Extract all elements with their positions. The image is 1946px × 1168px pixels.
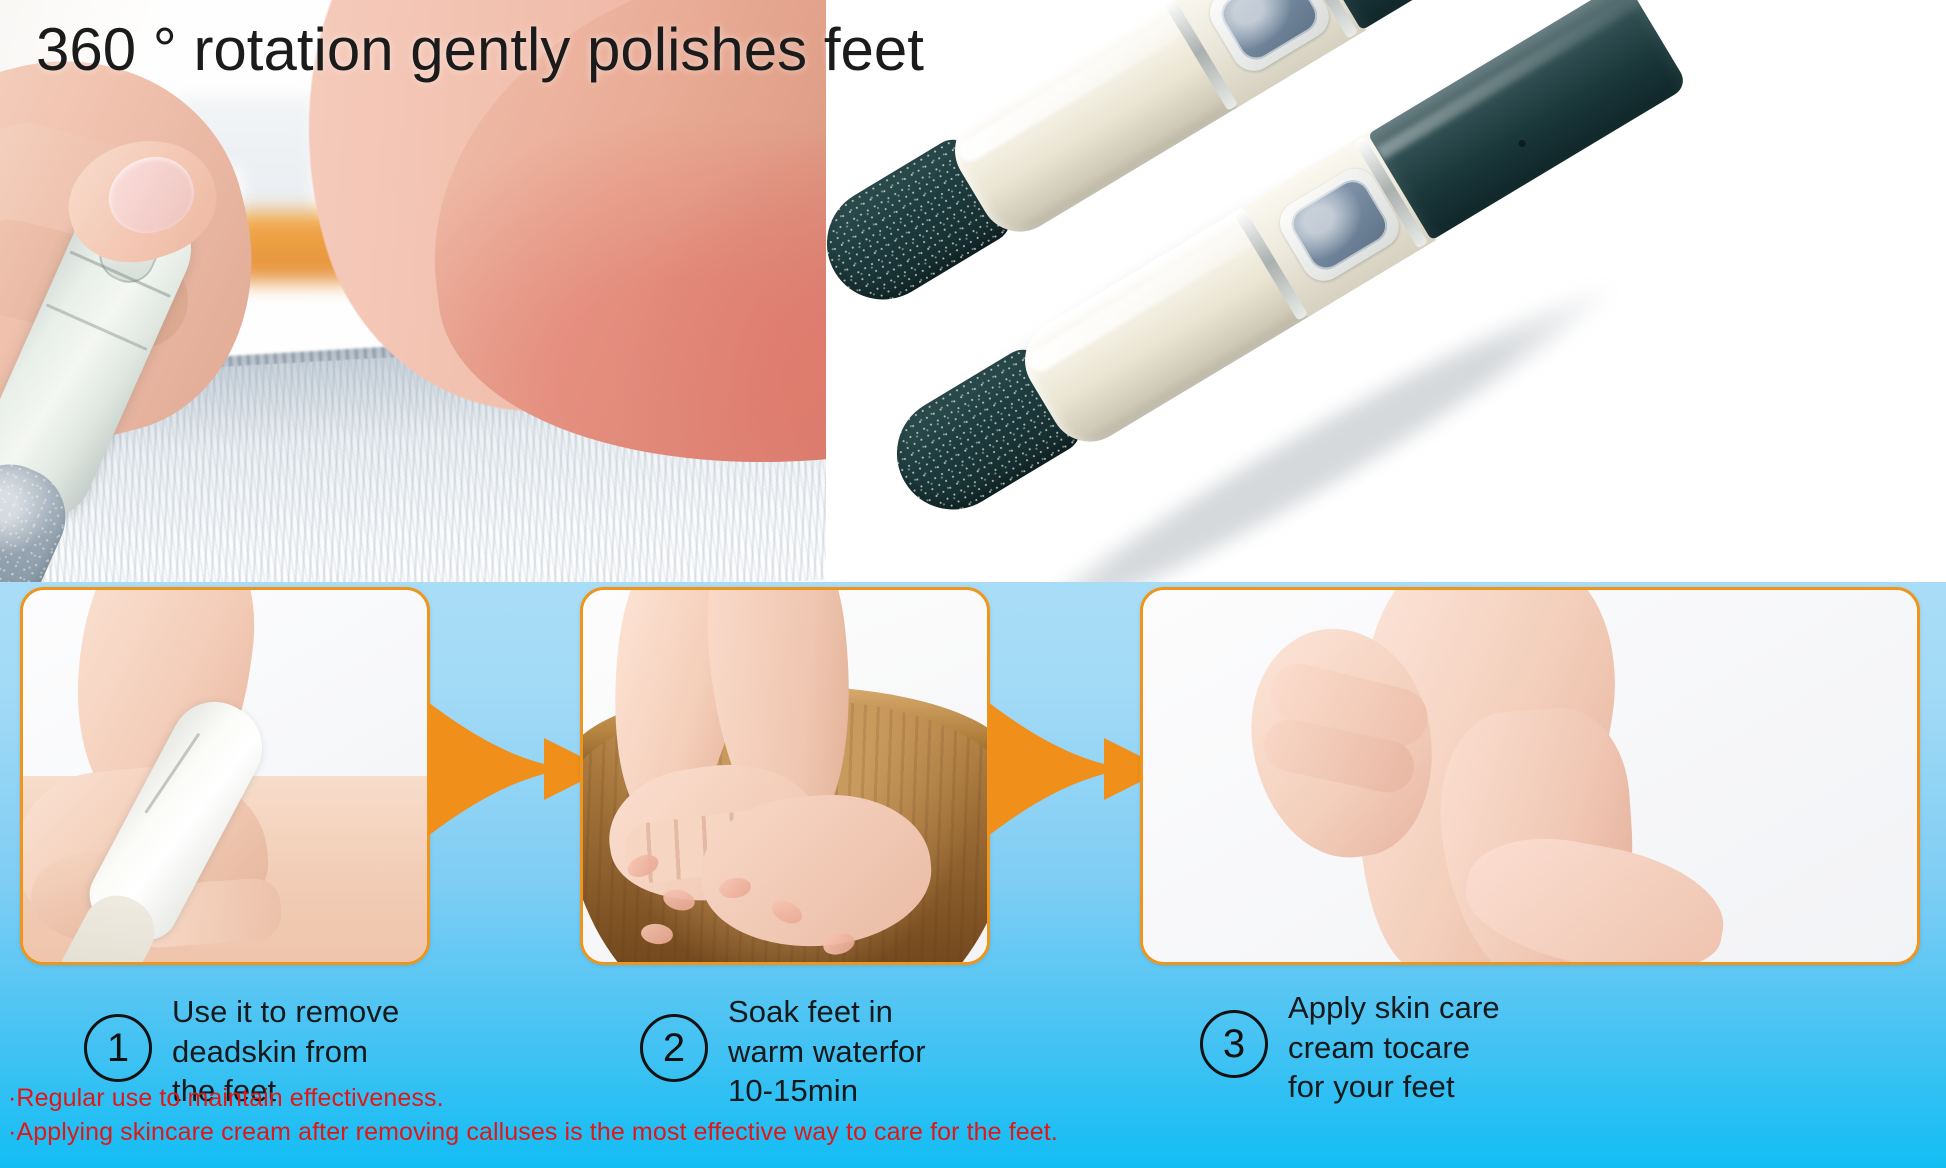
footnote-line-1: ·Regular use to maintain effectiveness.: [8, 1082, 1938, 1116]
page-title: 360 ° rotation gently polishes feet: [36, 20, 924, 80]
hero-photo-section: 360 ° rotation gently polishes feet: [0, 0, 1946, 582]
footnotes: ·Regular use to maintain effectiveness. …: [8, 1082, 1938, 1149]
footnote-line-2: ·Applying skincare cream after removing …: [8, 1116, 1938, 1150]
infographic-page: 360 ° rotation gently polishes feet: [0, 0, 1946, 1168]
product-shot-stage: [826, 0, 1946, 582]
step-number-1: 1: [84, 1014, 152, 1082]
step-image-1: [20, 587, 430, 965]
step-number-2: 2: [640, 1014, 708, 1082]
step-image-3: [1140, 587, 1920, 965]
step-number-3: 3: [1200, 1010, 1268, 1078]
step-image-2: [580, 587, 990, 965]
product-handle-lower: [1368, 0, 1689, 240]
